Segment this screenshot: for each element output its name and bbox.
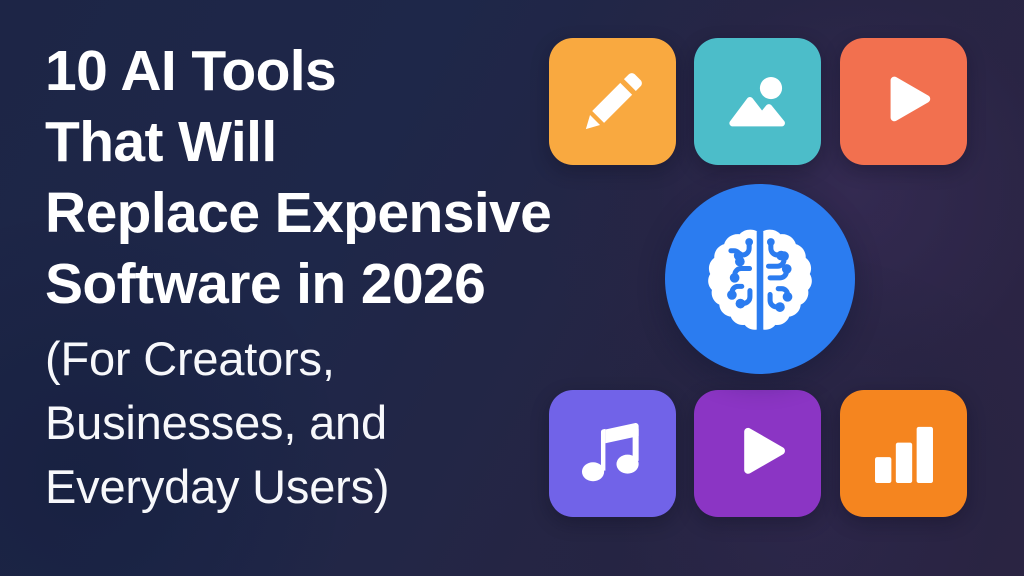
music-note-icon (575, 416, 651, 492)
brain-icon (698, 217, 822, 341)
tile-writing (549, 38, 676, 165)
image-icon (720, 64, 796, 140)
subhead-line-1: (For Creators, (45, 327, 665, 391)
bar-chart-icon (867, 417, 941, 491)
tile-video-editing (694, 390, 821, 517)
play-icon (722, 418, 794, 490)
tile-video (840, 38, 967, 165)
headline-line-3: Replace Expensive (45, 178, 665, 249)
tile-analytics (840, 390, 967, 517)
play-icon (869, 67, 939, 137)
tile-audio (549, 390, 676, 517)
tile-image (694, 38, 821, 165)
ai-brain-badge (665, 184, 855, 374)
thumbnail-canvas: 10 AI Tools That Will Replace Expensive … (0, 0, 1024, 576)
pencil-icon (576, 65, 650, 139)
headline-line-4: Software in 2026 (45, 249, 665, 320)
